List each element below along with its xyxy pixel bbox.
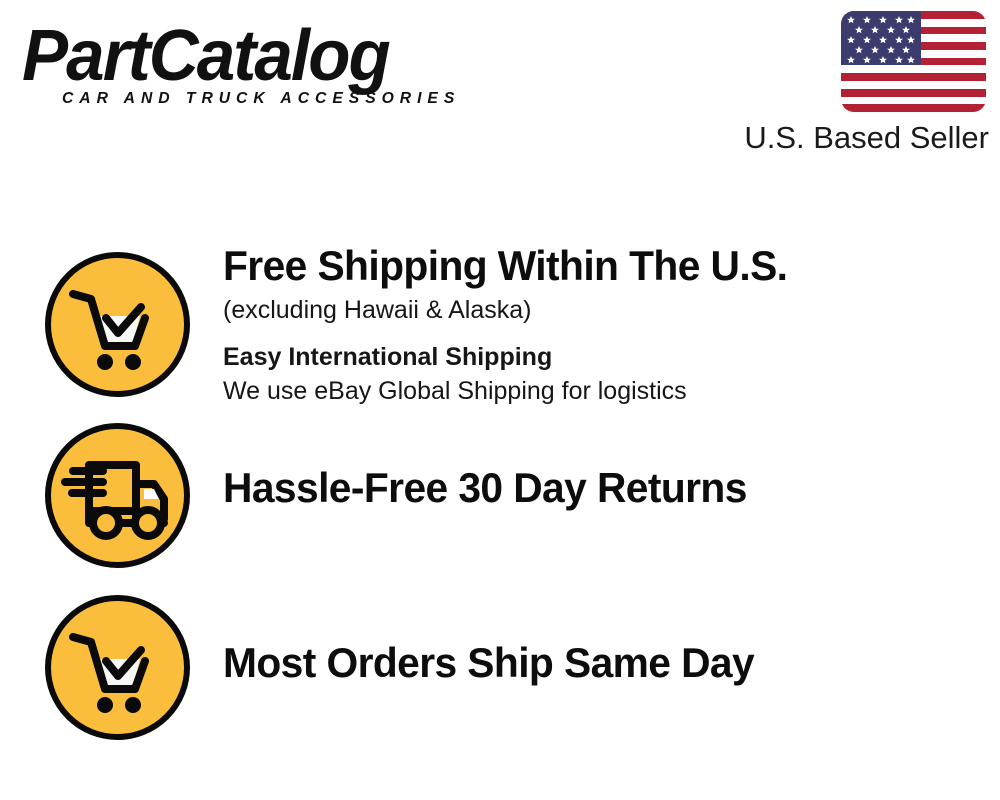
shopping-cart-check-icon (45, 595, 190, 740)
delivery-truck-icon (45, 423, 190, 568)
feature-row: Most Orders Ship Same Day (0, 583, 1000, 758)
brand-tagline: CAR AND TRUCK ACCESSORIES (62, 90, 460, 108)
us-flag-icon (841, 11, 986, 112)
feature-text-block: Free Shipping Within The U.S. (excluding… (223, 242, 983, 408)
us-based-seller-label: U.S. Based Seller (723, 120, 989, 156)
feature-text-block: Most Orders Ship Same Day (223, 639, 983, 687)
feature-title: Hassle-Free 30 Day Returns (223, 464, 960, 512)
flag-canton (841, 11, 921, 65)
feature-subline: (excluding Hawaii & Alaska) (223, 294, 983, 327)
page-header: PartCatalog CAR AND TRUCK ACCESSORIES (0, 0, 1000, 175)
feature-subline: Easy International Shipping (223, 341, 983, 374)
feature-subline: We use eBay Global Shipping for logistic… (223, 375, 983, 408)
feature-row: Hassle-Free 30 Day Returns (0, 411, 1000, 586)
brand-logo[interactable]: PartCatalog CAR AND TRUCK ACCESSORIES (22, 18, 492, 113)
brand-wordmark: PartCatalog (22, 18, 389, 94)
feature-title: Most Orders Ship Same Day (223, 639, 960, 687)
shopping-cart-check-icon (45, 252, 190, 397)
feature-title: Free Shipping Within The U.S. (223, 242, 960, 290)
feature-row: Free Shipping Within The U.S. (excluding… (0, 240, 1000, 415)
feature-text-block: Hassle-Free 30 Day Returns (223, 464, 983, 512)
